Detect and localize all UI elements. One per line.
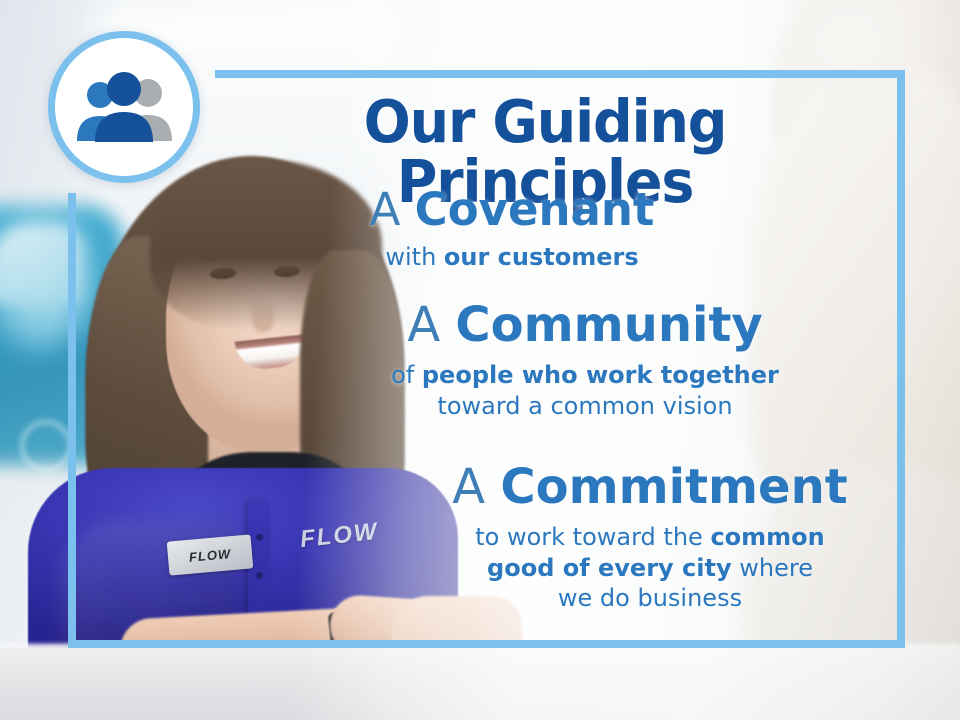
text-content: Our Guiding Principles A Covenant with o… <box>0 0 960 720</box>
principle-keyword: Community <box>455 297 762 353</box>
emphasis-text: people who work together <box>422 361 779 389</box>
principle-body-line: we do business <box>410 583 890 613</box>
principle-title-1: A Covenant <box>278 186 746 233</box>
principle-block-covenant: A Covenant with our customers <box>278 186 746 272</box>
body-text: toward a common vision <box>437 392 732 420</box>
principle-body-line: to work toward the common <box>410 522 890 552</box>
body-text: with <box>385 243 444 271</box>
body-text: we do business <box>558 584 742 612</box>
principle-body-line: of people who work together <box>330 360 840 390</box>
emphasis-text: good of every city <box>487 554 732 582</box>
emphasis-text: our customers <box>444 243 639 271</box>
principle-body-line: with our customers <box>278 242 746 272</box>
body-text: where <box>732 554 813 582</box>
principle-body-line: good of every city where <box>410 553 890 583</box>
body-text: to work toward the <box>475 523 710 551</box>
principle-block-commitment: A Commitment to work toward the commongo… <box>410 462 890 613</box>
principle-body-3: to work toward the commongood of every c… <box>410 522 890 613</box>
principle-body-2: of people who work togethertoward a comm… <box>330 360 840 420</box>
principle-article: A <box>407 297 455 353</box>
principle-article: A <box>370 183 415 236</box>
principle-keyword: Commitment <box>500 459 847 515</box>
principle-title-3: A Commitment <box>410 462 890 512</box>
promotional-graphic: FLOW FLOW <box>0 0 960 720</box>
principle-body-line: toward a common vision <box>330 391 840 421</box>
principle-keyword: Covenant <box>415 183 655 236</box>
principle-title-2: A Community <box>330 300 840 350</box>
principle-article: A <box>452 459 500 515</box>
principle-block-community: A Community of people who work togethert… <box>330 300 840 421</box>
body-text: of <box>391 361 422 389</box>
emphasis-text: common <box>710 523 824 551</box>
principle-body-1: with our customers <box>278 242 746 272</box>
